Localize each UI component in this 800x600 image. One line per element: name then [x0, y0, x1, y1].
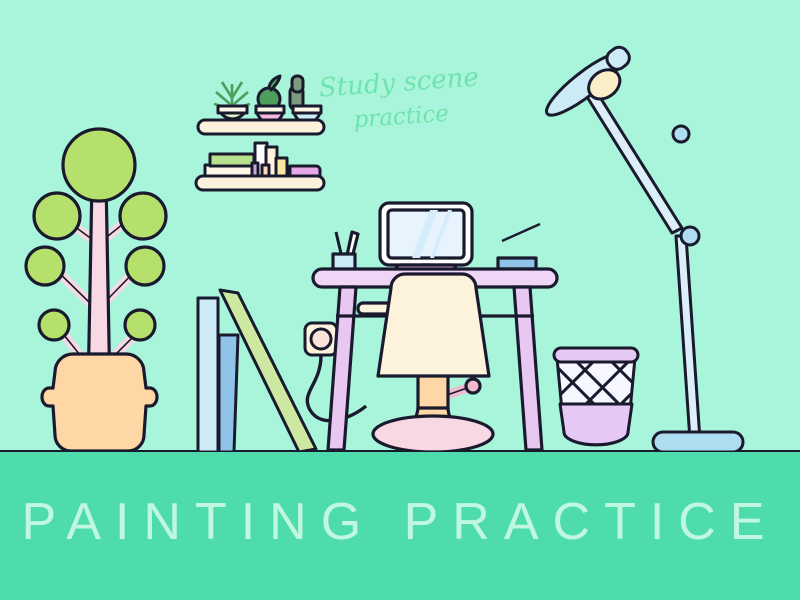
tree-leaf-left-mid: [26, 247, 64, 285]
banner-title: PAINTING PRACTICE: [0, 492, 800, 552]
office-chair: [373, 274, 493, 452]
illustration-scene: Study scene practice PAINTING PRACTICE: [0, 0, 800, 600]
tree-pot: [42, 354, 157, 451]
lamp-joint-lower: [681, 227, 699, 245]
canvas-pale-blue: [198, 298, 218, 452]
tree-leaf-left-upper: [34, 193, 80, 239]
monitor: [380, 203, 472, 276]
chair-back: [378, 274, 489, 376]
tree-leaf-right-upper: [120, 193, 166, 239]
tree-leaf-right-lower: [125, 310, 155, 340]
stacked-book-green: [210, 154, 254, 166]
chair-base: [373, 416, 493, 452]
canvas-mid-blue: [219, 335, 238, 452]
lamp-base: [653, 432, 743, 452]
tree-leaf-right-mid: [126, 247, 164, 285]
wastebasket-rim: [554, 348, 638, 362]
chair-lever-knob: [466, 379, 480, 393]
lower-shelf-board: [196, 176, 324, 190]
tree-leaf-left-lower: [39, 310, 69, 340]
lamp-joint-upper: [673, 126, 689, 142]
upright-book-yellow: [276, 158, 287, 177]
outlet-socket-icon: [311, 329, 331, 349]
